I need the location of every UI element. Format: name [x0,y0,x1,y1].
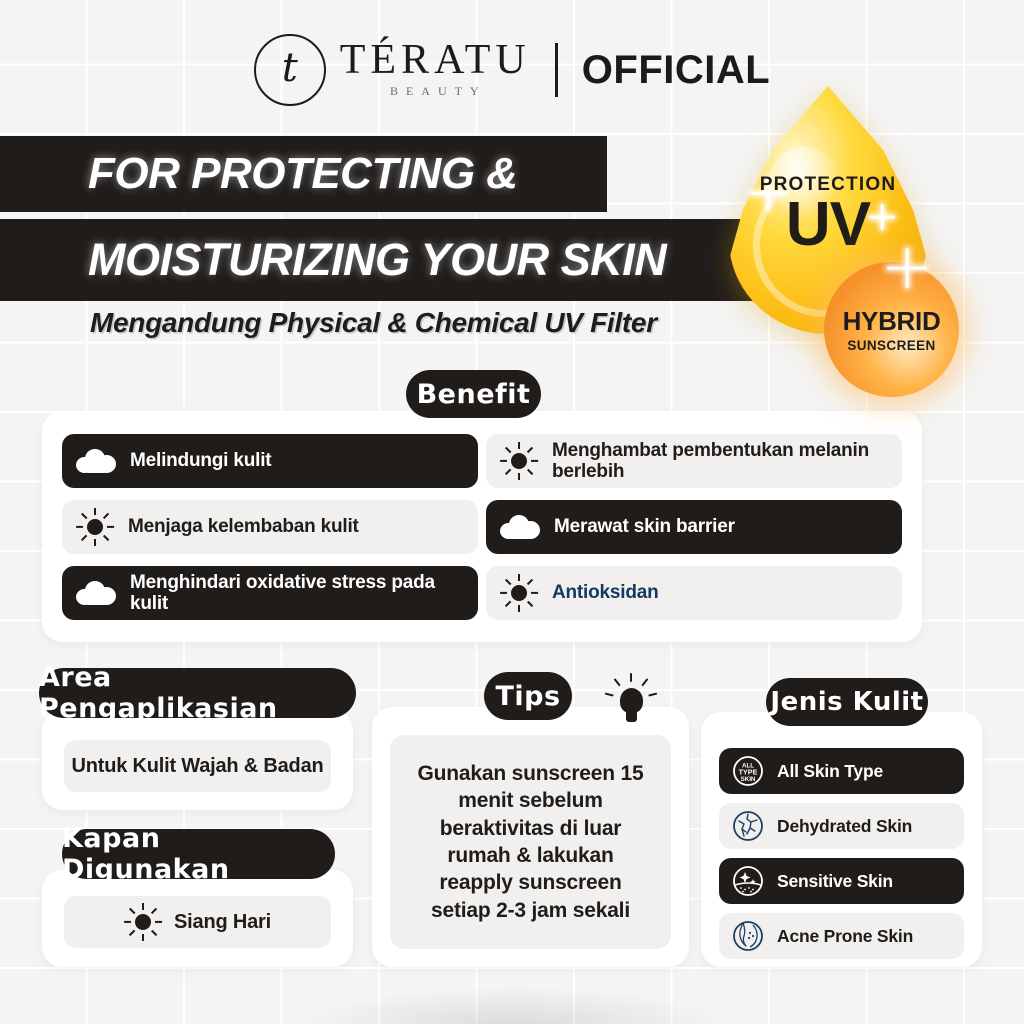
headline-bar-1: FOR PROTECTING & [0,136,607,212]
cloud-icon [500,514,540,540]
svg-text:SKIN: SKIN [741,776,756,783]
uv-text: UV [729,196,927,253]
tips-text: Gunakan sunscreen 15 menit sebelum berak… [418,760,644,924]
poster-canvas: t TÉRATU BEAUTY OFFICIAL FOR PROTECTING … [0,0,1024,1024]
uv-label-group: PROTECTION UV [729,174,927,253]
skin-type-row[interactable]: ALL TYPE SKIN All Skin Type [719,748,964,794]
skin-type-label: Dehydrated Skin [777,816,912,837]
skin-type-label: All Skin Type [777,761,883,782]
benefit-item[interactable]: Merawat skin barrier [486,500,902,554]
cloud-icon [76,580,116,606]
section-label-benefit: Benefit [406,370,541,418]
all-skin-type-icon: ALL TYPE SKIN [731,754,765,788]
dehydrated-skin-icon [731,809,765,843]
benefit-item-label: Merawat skin barrier [554,516,735,537]
benefit-label-text: Benefit [417,379,531,410]
benefit-item-label: Menjaga kelembaban kulit [128,516,359,537]
sun-icon [76,508,114,546]
skin-type-row[interactable]: Sensitive Skin [719,858,964,904]
headline-line-2: MOISTURIZING YOUR SKIN [88,234,666,286]
lightbulb-icon [604,672,658,734]
area-card: Untuk Kulit Wajah & Badan [42,710,353,810]
section-label-tips: Tips [484,672,572,720]
section-label-jenis-kulit: Jenis Kulit [766,678,928,726]
jenis-kulit-card: ALL TYPE SKIN All Skin Type Dehydrated S… [701,712,982,967]
benefit-item-label: Melindungi kulit [130,450,271,471]
section-label-kapan-digunakan: Kapan Digunakan [62,829,335,879]
brand-monogram-letter: t [282,48,298,88]
kapan-label-text: Kapan Digunakan [62,823,335,885]
benefit-item-label: Menghambat pembentukan melanin berlebih [552,440,888,483]
benefit-item[interactable]: Antioksidan [486,566,902,620]
brand-monogram-icon: t [254,34,326,106]
area-value-pill[interactable]: Untuk Kulit Wajah & Badan [64,740,331,792]
brand-name: TÉRATU [340,41,531,81]
bottom-shadow [300,986,730,1024]
benefit-item[interactable]: Menghambat pembentukan melanin berlebih [486,434,902,488]
skin-type-label: Acne Prone Skin [777,926,913,947]
benefit-item[interactable]: Menghindari oxidative stress pada kulit [62,566,478,620]
sensitive-skin-icon [731,864,765,898]
headline-bar-2: MOISTURIZING YOUR SKIN [0,219,787,301]
hybrid-title: HYBRID [843,306,941,337]
benefit-item[interactable]: Menjaga kelembaban kulit [62,500,478,554]
tips-content-box: Gunakan sunscreen 15 menit sebelum berak… [390,735,671,949]
hybrid-sunscreen-badge: HYBRID SUNSCREEN [824,262,959,397]
tips-label-text: Tips [495,681,560,712]
kapan-value-pill[interactable]: Siang Hari [64,896,331,948]
headline-subtitle: Mengandung Physical & Chemical UV Filter [90,307,657,339]
cloud-icon [76,448,116,474]
brand-divider [555,43,558,97]
skin-label-text: Jenis Kulit [770,687,923,717]
sun-icon [500,442,538,480]
sun-icon [500,574,538,612]
headline-line-1: FOR PROTECTING & [88,149,518,199]
skin-type-row[interactable]: Dehydrated Skin [719,803,964,849]
benefit-item[interactable]: Melindungi kulit [62,434,478,488]
hybrid-subtitle: SUNSCREEN [847,338,935,353]
skin-type-row[interactable]: Acne Prone Skin [719,913,964,959]
acne-prone-skin-icon [731,919,765,953]
benefit-item-label: Menghindari oxidative stress pada kulit [130,572,464,615]
sun-icon [124,903,162,941]
area-label-text: Area Pengaplikasian [39,662,356,724]
benefit-card: Melindungi kulit Menghambat pembentukan … [42,411,922,642]
area-value-text: Untuk Kulit Wajah & Badan [71,755,323,778]
skin-type-label: Sensitive Skin [777,871,893,892]
brand-subtitle: BEAUTY [384,84,487,99]
brand-wordmark: TÉRATU BEAUTY [340,41,531,99]
tips-card: Gunakan sunscreen 15 menit sebelum berak… [372,707,689,967]
kapan-value-text: Siang Hari [174,911,271,934]
benefit-item-label: Antioksidan [552,582,659,603]
section-label-area-pengaplikasian: Area Pengaplikasian [39,668,356,718]
